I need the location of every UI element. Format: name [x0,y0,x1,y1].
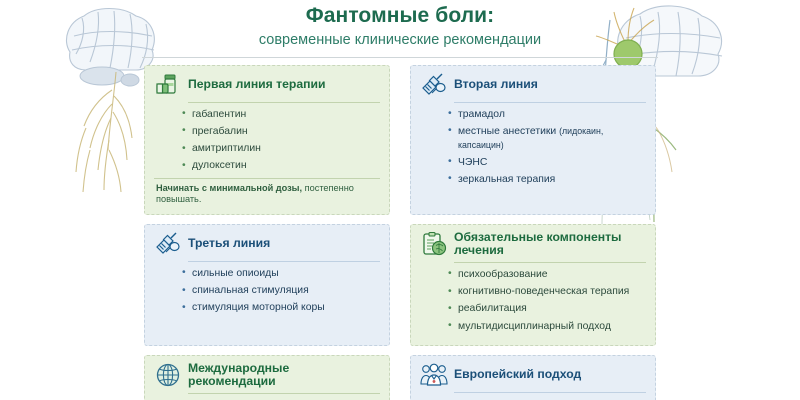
list-item: психообразование [448,268,646,282]
card-list: габапентин прегабалин амитриптилин дулок… [182,108,380,173]
syringe-icon [154,231,182,257]
item-main: местные анестетики [458,126,559,137]
card-rule [454,262,646,263]
card-third-line[interactable]: Третья линия сильные опиоиды спинальная … [144,224,390,346]
note-strong-text: Начинать с минимальной дозы, [156,183,302,193]
card-second-line[interactable]: Вторая линия трамадол местные анестетики… [410,65,656,215]
list-item: реабилитация [448,302,646,316]
list-item: трамадол [448,108,646,122]
list-item: ЧЭНС [448,156,646,170]
card-first-line-therapy[interactable]: Первая линия терапии габапентин прегабал… [144,65,390,215]
card-header: Международные рекомендации [154,362,380,393]
item-main: зеркальная терапия [458,174,555,185]
page-subtitle: современные клинические рекомендации [0,32,800,49]
card-rule [188,261,380,262]
card-list: трамадол местные анестетики (лидокаин, к… [448,108,646,187]
pill-bottles-icon [154,72,182,98]
note-separator [154,178,380,179]
card-header: Обязательные компоненты лечения [420,231,646,262]
list-item: сильные опиоиды [182,267,380,281]
card-rule [188,393,380,394]
card-note: Начинать с минимальной дозы, постепенно … [154,183,380,206]
list-item: когнитивно-поведенческая терапия [448,285,646,299]
list-item: габапентин [182,108,380,122]
card-title: Европейский подход [454,368,581,381]
card-title: Вторая линия [454,78,538,91]
cards-grid: Первая линия терапии габапентин прегабал… [144,65,656,400]
card-header: Третья линия [154,231,380,261]
card-rule [454,102,646,103]
header-divider [142,57,658,58]
card-title: Третья линия [188,237,270,250]
syringe-icon [420,72,448,98]
list-item: мультидисциплинарный подход [448,320,646,334]
list-item: амитриптилин [182,142,380,156]
card-international-recommendations[interactable]: Международные рекомендации раннее начало… [144,355,390,400]
card-list: психообразование когнитивно-поведенческа… [448,268,646,333]
card-header: Первая линия терапии [154,72,380,102]
card-header: Вторая линия [420,72,646,102]
list-item: прегабалин [182,125,380,139]
list-item: местные анестетики (лидокаин, капсаицин) [448,125,646,152]
item-main: ЧЭНС [458,157,487,168]
clipboard-brain-icon [420,231,448,257]
card-title: Международные рекомендации [188,362,380,389]
card-mandatory-components[interactable]: Обязательные компоненты лечения психообр… [410,224,656,346]
medical-team-icon [420,362,448,388]
card-list: сильные опиоиды спинальная стимуляция ст… [182,267,380,315]
item-main: трамадол [458,109,505,120]
page-title: Фантомные боли: [0,4,800,28]
card-header: Европейский подход [420,362,646,392]
list-item: зеркальная терапия [448,173,646,187]
card-european-approach[interactable]: Европейский подход команда специалистов … [410,355,656,400]
card-title: Первая линия терапии [188,78,326,91]
card-rule [454,392,646,393]
page-header: Фантомные боли: современные клинические … [0,0,800,58]
card-rule [188,102,380,103]
list-item: дулоксетин [182,159,380,173]
list-item: стимуляция моторной коры [182,301,380,315]
globe-icon [154,362,182,388]
list-item: спинальная стимуляция [182,284,380,298]
card-title: Обязательные компоненты лечения [454,231,646,258]
